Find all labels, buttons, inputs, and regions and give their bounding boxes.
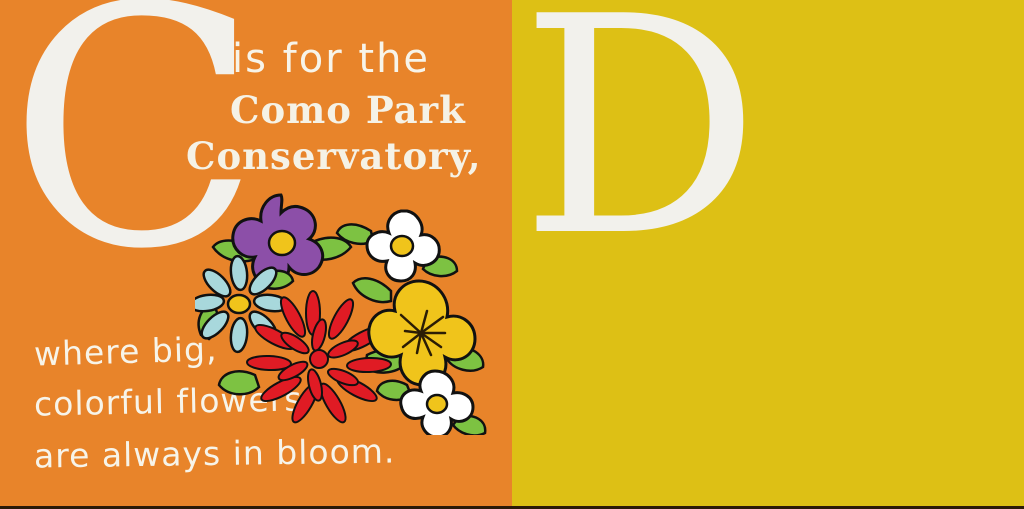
text-where-big: where big, xyxy=(33,329,217,373)
text-como-park: Como Park xyxy=(230,88,466,132)
dropcap-letter-d: D xyxy=(520,0,761,278)
white-flower-top-icon xyxy=(337,211,457,281)
white-flower-bottom-icon xyxy=(377,371,485,435)
flower-cluster-illustration xyxy=(195,185,495,435)
text-always-in-bloom: are always in bloom. xyxy=(34,431,396,475)
left-page: C is for the Como Park Conservatory, whe… xyxy=(0,0,512,509)
book-spread: C is for the Como Park Conservatory, whe… xyxy=(0,0,1024,509)
text-conservatory: Conservatory, xyxy=(186,134,481,178)
right-page: D is for discovery. At our Science Museu… xyxy=(512,0,1024,509)
text-is-for-the: is for the xyxy=(232,36,430,82)
